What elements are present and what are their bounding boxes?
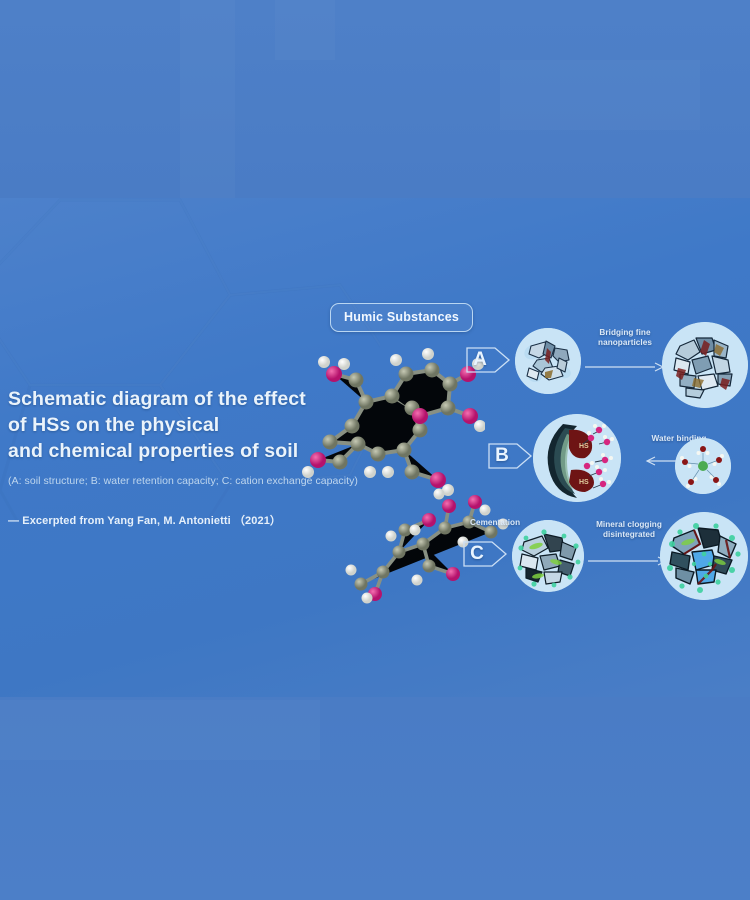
poster-text-block: Schematic diagram of the effect of HSs o…	[8, 386, 338, 528]
row-caption-a: Bridging fine nanoparticles	[583, 328, 667, 347]
source-credit: — Excerpted from Yang Fan, M. Antonietti…	[8, 512, 338, 528]
arrow-pentagon-icon-b: B	[487, 436, 533, 476]
humic-sheet-with-water-circle: HS HS	[533, 414, 621, 502]
hydrated-cation-circle	[675, 438, 731, 494]
mineral-disintegrated-aggregate-circle	[660, 512, 748, 600]
mineral-clogged-aggregate-circle	[512, 520, 584, 592]
row-caption-c-line1: Mineral clogging	[584, 520, 674, 530]
row-prelabel-c: Cementation	[470, 518, 520, 527]
background-tone-1	[180, 0, 235, 198]
background-tone-2	[275, 0, 335, 60]
arrow-right-icon-c	[588, 554, 668, 572]
arrow-right-icon-a	[585, 360, 665, 378]
arrow-pentagon-icon-c: C	[462, 534, 508, 574]
row-b: B HS HS	[465, 414, 750, 506]
row-caption-a-line2: nanoparticles	[583, 338, 667, 348]
background-tone-3	[500, 60, 700, 130]
poster-canvas: Schematic diagram of the effect of HSs o…	[0, 0, 750, 900]
soil-aggregate-loose-circle	[515, 328, 581, 394]
soil-aggregate-bound-circle	[662, 322, 748, 408]
row-caption-c-line2: disintegrated	[584, 530, 674, 540]
row-badge-letter-b: B	[487, 436, 517, 476]
humic-substances-label: Humic Substances	[330, 303, 473, 332]
title-line-3: and chemical properties of soil	[8, 438, 338, 464]
row-a: A	[465, 322, 750, 410]
row-c: Cementation C	[462, 506, 750, 600]
page-title: Schematic diagram of the effect of HSs o…	[8, 386, 338, 464]
page-subtitle: (A: soil structure; B: water retention c…	[8, 474, 338, 488]
title-line-2: of HSs on the physical	[8, 412, 338, 438]
row-badge-letter-a: A	[465, 340, 495, 380]
svg-text:HS: HS	[579, 443, 589, 450]
row-badge-letter-c: C	[462, 534, 492, 574]
svg-text:HS: HS	[579, 479, 589, 486]
row-caption-a-line1: Bridging fine	[583, 328, 667, 338]
row-caption-c: Mineral clogging disintegrated	[584, 520, 674, 539]
background-tone-4	[0, 700, 320, 760]
title-line-1: Schematic diagram of the effect	[8, 386, 338, 412]
arrow-pentagon-icon-a: A	[465, 340, 511, 380]
